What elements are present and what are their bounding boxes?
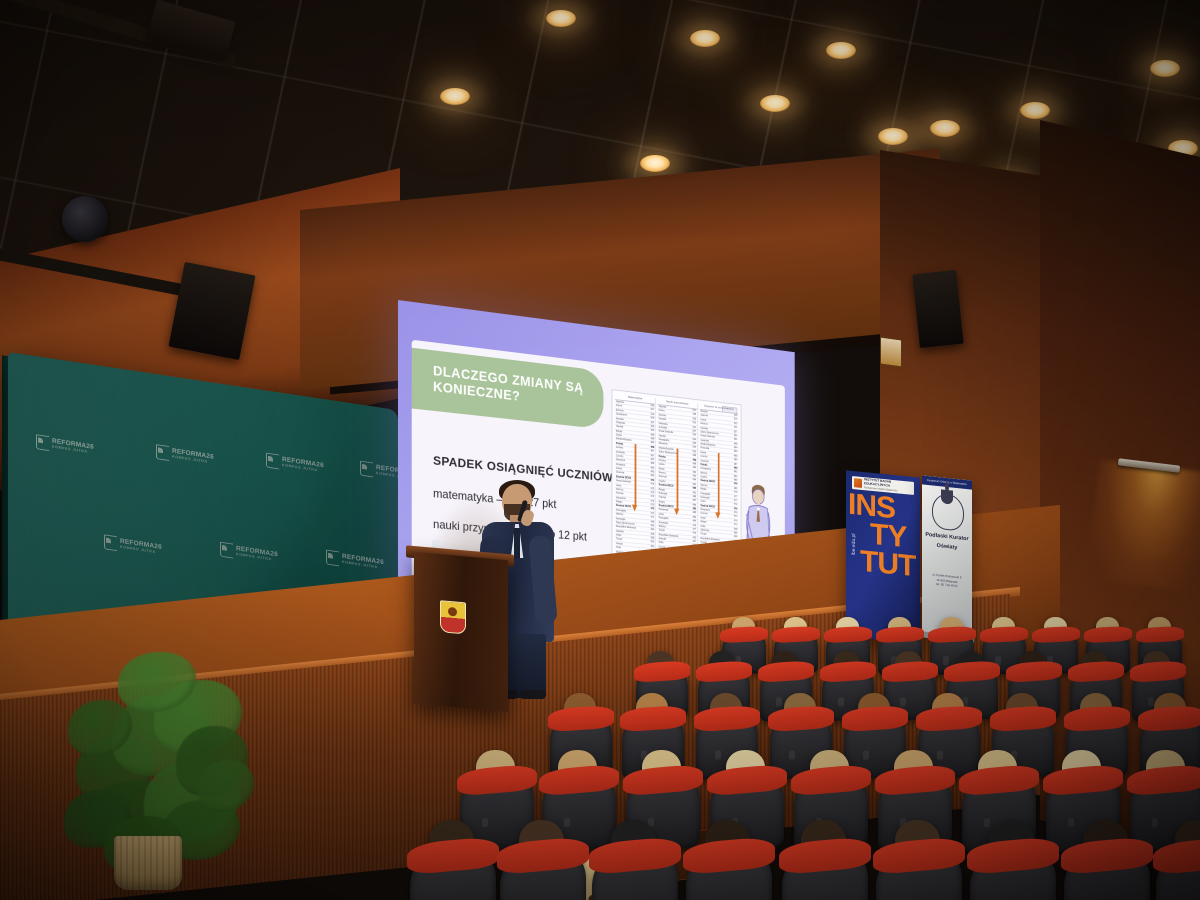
country-name: Węgry <box>616 500 622 504</box>
flag-icon <box>104 534 117 551</box>
country-score: 499 <box>693 454 697 458</box>
country-score: 504 <box>693 438 697 442</box>
country-score: 503 <box>693 442 697 446</box>
country-score: 465 <box>651 524 655 528</box>
country-score: 487 <box>651 458 655 462</box>
country-name: Litwa <box>700 500 705 504</box>
country-score: 472 <box>651 512 655 516</box>
logo-tagline: KOMPAS JUTRA <box>52 446 94 456</box>
flame-icon <box>945 482 949 491</box>
table-down-arrow-icon <box>676 449 679 519</box>
country-score: 504 <box>734 434 738 438</box>
country-score: 473 <box>651 499 655 503</box>
country-score: 497 <box>651 421 655 425</box>
country-name: Izrael <box>616 534 621 538</box>
flag-icon <box>36 434 49 451</box>
slide-title: DLACZEGO ZMIANY SĄ KONIECZNE? <box>433 363 589 413</box>
auditorium-seat <box>1064 842 1150 900</box>
kurator-name-line-1: Podlaski Kurator <box>922 531 972 542</box>
country-name: Grecja <box>616 542 623 546</box>
country-score: 472 <box>651 479 655 483</box>
lamp-body-icon <box>941 489 953 504</box>
country-name: Łotwa <box>616 467 622 471</box>
country-score: 484 <box>693 516 697 519</box>
ceiling-downlight <box>1150 60 1180 77</box>
country-score: 498 <box>693 462 697 466</box>
country-score: 536 <box>651 404 655 408</box>
country-score: 500 <box>693 446 697 450</box>
country-score: 511 <box>734 426 737 430</box>
country-score: 526 <box>693 417 697 421</box>
slide-title-box: DLACZEGO ZMIANY SĄ KONIECZNE? <box>412 348 604 430</box>
country-score: 507 <box>693 429 697 433</box>
country-score: 507 <box>734 430 738 434</box>
flag-icon <box>326 550 339 567</box>
country-name: Belgia <box>700 488 706 492</box>
country-score: 515 <box>734 422 738 426</box>
country-score: 508 <box>651 417 655 421</box>
country-score: 447 <box>693 540 697 543</box>
country-name: Litwa <box>659 512 664 516</box>
logo-tagline: KOMPAS JUTRA <box>172 456 214 466</box>
country-score: 486 <box>693 503 697 506</box>
country-score: 487 <box>734 462 738 465</box>
country-score: 491 <box>693 483 697 487</box>
auditorium-seat <box>970 842 1056 900</box>
country-score: 485 <box>693 507 697 510</box>
country-score: 489 <box>651 441 655 445</box>
plant-leaf-cluster <box>198 760 254 812</box>
speaker-tie <box>514 528 520 558</box>
country-score: 476 <box>693 532 697 535</box>
sconce-glow <box>1085 459 1200 592</box>
country-score: 485 <box>651 462 655 466</box>
country-score: 489 <box>734 454 738 458</box>
kurator-name-line-2: Oświaty <box>922 541 972 552</box>
audience-area <box>430 596 1200 900</box>
reforma26-logo: REFORMA26KOMPAS JUTRA <box>156 444 214 468</box>
country-score: 498 <box>734 442 738 446</box>
moving-head-light <box>62 196 108 242</box>
country-score: 487 <box>651 454 655 458</box>
country-name: Turcja <box>700 533 706 537</box>
country-score: 479 <box>651 483 655 487</box>
country-score: 527 <box>651 408 655 412</box>
logo-name: REFORMA26 <box>376 465 398 478</box>
logo-tagline: KOMPAS JUTRA <box>342 561 384 571</box>
country-score: 475 <box>651 487 655 491</box>
country-score: 453 <box>651 541 655 544</box>
country-score: 489 <box>651 437 655 441</box>
ceiling-downlight <box>878 128 908 145</box>
country-score: 462 <box>693 536 697 539</box>
country-score: 485 <box>693 511 697 514</box>
auditorium-seat <box>1156 842 1200 900</box>
country-name: Dania <box>659 467 665 471</box>
country-score: 528 <box>693 413 697 417</box>
ceiling-downlight <box>546 10 576 27</box>
country-score: 494 <box>734 446 738 450</box>
country-score: 487 <box>651 450 655 454</box>
country-score: 515 <box>693 421 697 425</box>
country-name: Belgia <box>659 488 665 492</box>
table-down-arrow-icon <box>633 444 637 515</box>
auditorium-photo: REFORMA26KOMPAS JUTRAREFORMA26KOMPAS JUT… <box>0 0 1200 900</box>
country-score: 473 <box>651 503 655 507</box>
country-name: Dania <box>700 451 706 455</box>
country-score: 472 <box>651 508 655 512</box>
reforma26-logo: REFORMA26KOMPAS JUTRA <box>36 434 94 458</box>
country-score: 516 <box>734 418 738 422</box>
country-score: 477 <box>693 528 697 531</box>
ceiling-downlight <box>690 30 720 47</box>
country-score: 516 <box>734 414 738 418</box>
auditorium-seat <box>410 842 496 900</box>
ficus-plant <box>58 640 248 890</box>
country-score: 510 <box>651 412 655 416</box>
country-score: 491 <box>693 491 697 495</box>
pa-speaker-right <box>912 270 963 348</box>
ceiling-downlight <box>1020 102 1050 119</box>
country-score: 504 <box>693 434 697 438</box>
flag-icon <box>156 444 169 461</box>
banner-line-3: TUT <box>860 548 918 582</box>
country-score: 501 <box>734 438 738 442</box>
country-score: 489 <box>734 466 738 469</box>
country-score: 484 <box>651 466 655 470</box>
logo-name: REFORMA26 <box>120 539 162 552</box>
country-score: 488 <box>693 495 697 499</box>
banner-url: ibe.edu.pl <box>851 533 857 555</box>
country-score: 471 <box>651 516 655 520</box>
country-score: 489 <box>651 446 655 450</box>
country-score: 494 <box>693 470 697 474</box>
country-score: 482 <box>651 474 655 478</box>
reforma26-logo: REFORMA26KOMPAS JUTRA <box>104 534 162 558</box>
country-score: 483 <box>734 471 738 474</box>
country-name: Turcja <box>659 529 665 533</box>
ibe-logo-icon <box>854 478 862 488</box>
country-name: Łotwa <box>659 463 665 467</box>
ceiling-downlight <box>640 155 670 172</box>
country-name: Chile <box>659 541 664 545</box>
country-score: 489 <box>734 458 738 461</box>
country-score: 511 <box>693 425 696 429</box>
country-score: 492 <box>651 429 655 433</box>
country-score: 474 <box>651 495 655 499</box>
logo-name: REFORMA26 <box>282 457 324 470</box>
logo-tagline: KOMPAS JUTRA <box>282 464 324 474</box>
ceiling-downlight <box>930 120 960 137</box>
reforma26-logo: REFORMA26KOMPAS JUTRA <box>360 461 398 485</box>
flag-icon <box>266 453 279 470</box>
country-score: 483 <box>651 470 655 474</box>
country-name: Węgry <box>700 520 706 524</box>
flag-icon <box>220 542 233 559</box>
reforma26-logo: REFORMA26KOMPAS JUTRA <box>266 453 324 477</box>
flag-icon <box>360 461 373 478</box>
country-score: 490 <box>734 450 738 454</box>
kurator-address: ul. Rynek Kościuszki 9 15-950 Białystok … <box>922 571 972 590</box>
country-name: Chile <box>616 546 621 550</box>
country-score: 464 <box>651 528 655 532</box>
banner-big-text: INS TY TUT <box>848 491 918 582</box>
country-name: Izrael <box>700 516 705 520</box>
country-score: 493 <box>651 425 655 429</box>
country-score: 484 <box>693 520 697 523</box>
country-score: 485 <box>693 487 697 491</box>
country-score: 492 <box>693 475 697 479</box>
auditorium-seat <box>782 842 868 900</box>
country-score: 500 <box>693 450 697 454</box>
logo-name: REFORMA26 <box>52 439 94 452</box>
reforma26-logo: REFORMA26KOMPAS JUTRA <box>220 542 278 566</box>
country-score: 475 <box>651 491 655 495</box>
country-score: 487 <box>693 499 697 502</box>
wicker-basket-pot <box>114 836 182 890</box>
country-name: Litwa <box>616 484 621 488</box>
ceiling-downlight <box>760 95 790 112</box>
country-score: 547 <box>693 409 697 413</box>
country-name: Turcja <box>616 538 622 542</box>
country-score: 451 <box>651 545 655 548</box>
ceiling-downlight <box>440 88 470 105</box>
reforma26-logo: REFORMA26KOMPAS JUTRA <box>326 550 384 574</box>
auditorium-seat <box>876 842 962 900</box>
table-down-arrow-icon <box>717 453 720 522</box>
auditorium-seat <box>500 842 586 900</box>
country-score: 499 <box>693 458 697 462</box>
logo-tagline: KOMPAS JUTRA <box>120 546 162 556</box>
logo-tagline: KOMPAS JUTRA <box>236 554 278 564</box>
country-score: 459 <box>651 532 655 536</box>
auditorium-seat <box>686 842 772 900</box>
auditorium-seat <box>592 842 678 900</box>
logo-name: REFORMA26 <box>172 448 214 461</box>
ceiling-downlight <box>826 42 856 59</box>
country-name: Węgry <box>659 500 665 504</box>
logo-name: REFORMA26 <box>342 554 384 567</box>
country-score: 494 <box>693 479 697 483</box>
country-score: 468 <box>651 520 655 524</box>
country-score: 478 <box>693 524 697 527</box>
country-name: Chile <box>700 524 705 528</box>
wall-sign <box>880 336 902 367</box>
logo-name: REFORMA26 <box>236 546 278 559</box>
country-score: 458 <box>651 537 655 540</box>
country-score: 489 <box>651 433 655 437</box>
logo-tagline: KOMPAS JUTRA <box>376 472 398 482</box>
country-score: 494 <box>693 466 697 470</box>
